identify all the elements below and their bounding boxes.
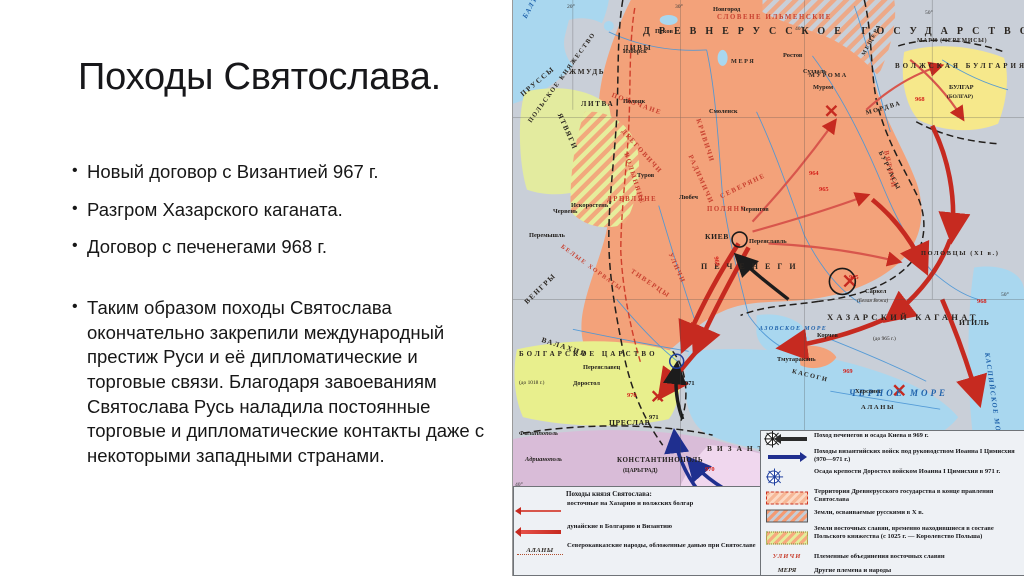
list-item: • Новый договор с Византией 967 г. [72, 160, 492, 185]
list-item: • Таким образом походы Святослава оконча… [72, 296, 497, 469]
legend-row: Территория Древнерусского государства в … [761, 487, 1024, 508]
legend-row: Походы византийских войск под руководств… [761, 447, 1024, 467]
legend-row-text: Северокавказские народы, обложенные дань… [567, 542, 757, 550]
legend-row-text: Племенные объединения восточных славян [814, 553, 1021, 561]
presentation-slide: Походы Святослава. • Новый договор с Виз… [0, 0, 1024, 576]
ulichi-sample-label: УЛИЧИ [764, 553, 810, 565]
legend-main: Поход печенегов и осада Киева в 969 г. П… [760, 430, 1024, 576]
arrow-thick-red-icon [517, 523, 563, 540]
bullet-glyph: • [72, 198, 87, 220]
legend-row-text: дунайские в Болгарию и Византию [567, 523, 757, 531]
legend-row: Земли восточных славян, временно находив… [761, 524, 1024, 552]
legend-row-text: Осада крепости Доростол войском Иоанна I… [814, 468, 1021, 476]
pecheneg-siege-icon [764, 432, 810, 446]
lands-poland-swatch [764, 525, 810, 551]
territory-rus-swatch [764, 488, 810, 507]
legend-row-text: Территория Древнерусского государства в … [814, 488, 1021, 503]
alany-sample-text: АЛАНЫ [517, 547, 563, 555]
legend-row: МЕРЯ Другие племена и народы [761, 566, 1024, 576]
lands-settled-swatch [764, 509, 810, 523]
list-item-text: Договор с печенегами 968 г. [87, 235, 492, 260]
bullet-glyph: • [72, 160, 87, 182]
list-item: • Разгром Хазарского каганата. [72, 198, 492, 223]
arrow-thin-red-icon [517, 500, 563, 521]
legend-row: УЛИЧИ Племенные объединения восточных сл… [761, 552, 1024, 566]
legend-row: Поход печенегов и осада Киева в 969 г. [761, 431, 1024, 447]
list-item-text: Новый договор с Византией 967 г. [87, 160, 492, 185]
ulichi-sample-text: УЛИЧИ [764, 553, 810, 561]
merya-sample-text: МЕРЯ [764, 567, 810, 575]
dorostol-siege-icon [764, 468, 810, 486]
legend-row: АЛАНЫ Северокавказские народы, обложенны… [514, 541, 760, 565]
legend-row-text: Поход печенегов и осада Киева в 969 г. [814, 432, 1021, 440]
bullet-glyph: • [72, 296, 87, 318]
historical-map: БАЛТИЙСКОЕ МОРЕ ЧЕРНОЕ МОРЕ АЗОВСКОЕ МОР… [512, 0, 1024, 576]
legend-row-text: Земли восточных славян, временно находив… [814, 525, 1021, 540]
arrow-blue-icon [764, 448, 810, 466]
legend-row-text: Земли, осваиваемые русскими в X в. [814, 509, 1021, 517]
legend-campaigns: Походы князя Святослава: восточные на Ха… [513, 486, 761, 576]
legend-row: восточные на Хазарию и волжских болгар [514, 499, 760, 522]
legend-campaigns-title: Походы князя Святослава: [514, 487, 760, 499]
list-item-text: Таким образом походы Святослава окончате… [87, 296, 497, 469]
legend-row: дунайские в Болгарию и Византию [514, 522, 760, 541]
merya-sample-label: МЕРЯ [764, 567, 810, 576]
bullet-glyph: • [72, 235, 87, 257]
alany-sample-label: АЛАНЫ [517, 542, 563, 564]
legend-row: Земли, осваиваемые русскими в X в. [761, 508, 1024, 524]
legend-row-text: Другие племена и народы [814, 567, 1021, 575]
legend-row-text: Походы византийских войск под руководств… [814, 448, 1021, 463]
page-title: Походы Святослава. [78, 58, 498, 98]
slide-text-column: Походы Святослава. • Новый договор с Виз… [0, 0, 505, 576]
list-item: • Договор с печенегами 968 г. [72, 235, 492, 260]
legend-row-text: восточные на Хазарию и волжских болгар [567, 500, 757, 508]
bullet-list-top: • Новый договор с Византией 967 г. • Раз… [72, 160, 492, 273]
legend-row: Осада крепости Доростол войском Иоанна I… [761, 467, 1024, 487]
list-item-text: Разгром Хазарского каганата. [87, 198, 492, 223]
bullet-list-bottom: • Таким образом походы Святослава оконча… [72, 296, 497, 469]
